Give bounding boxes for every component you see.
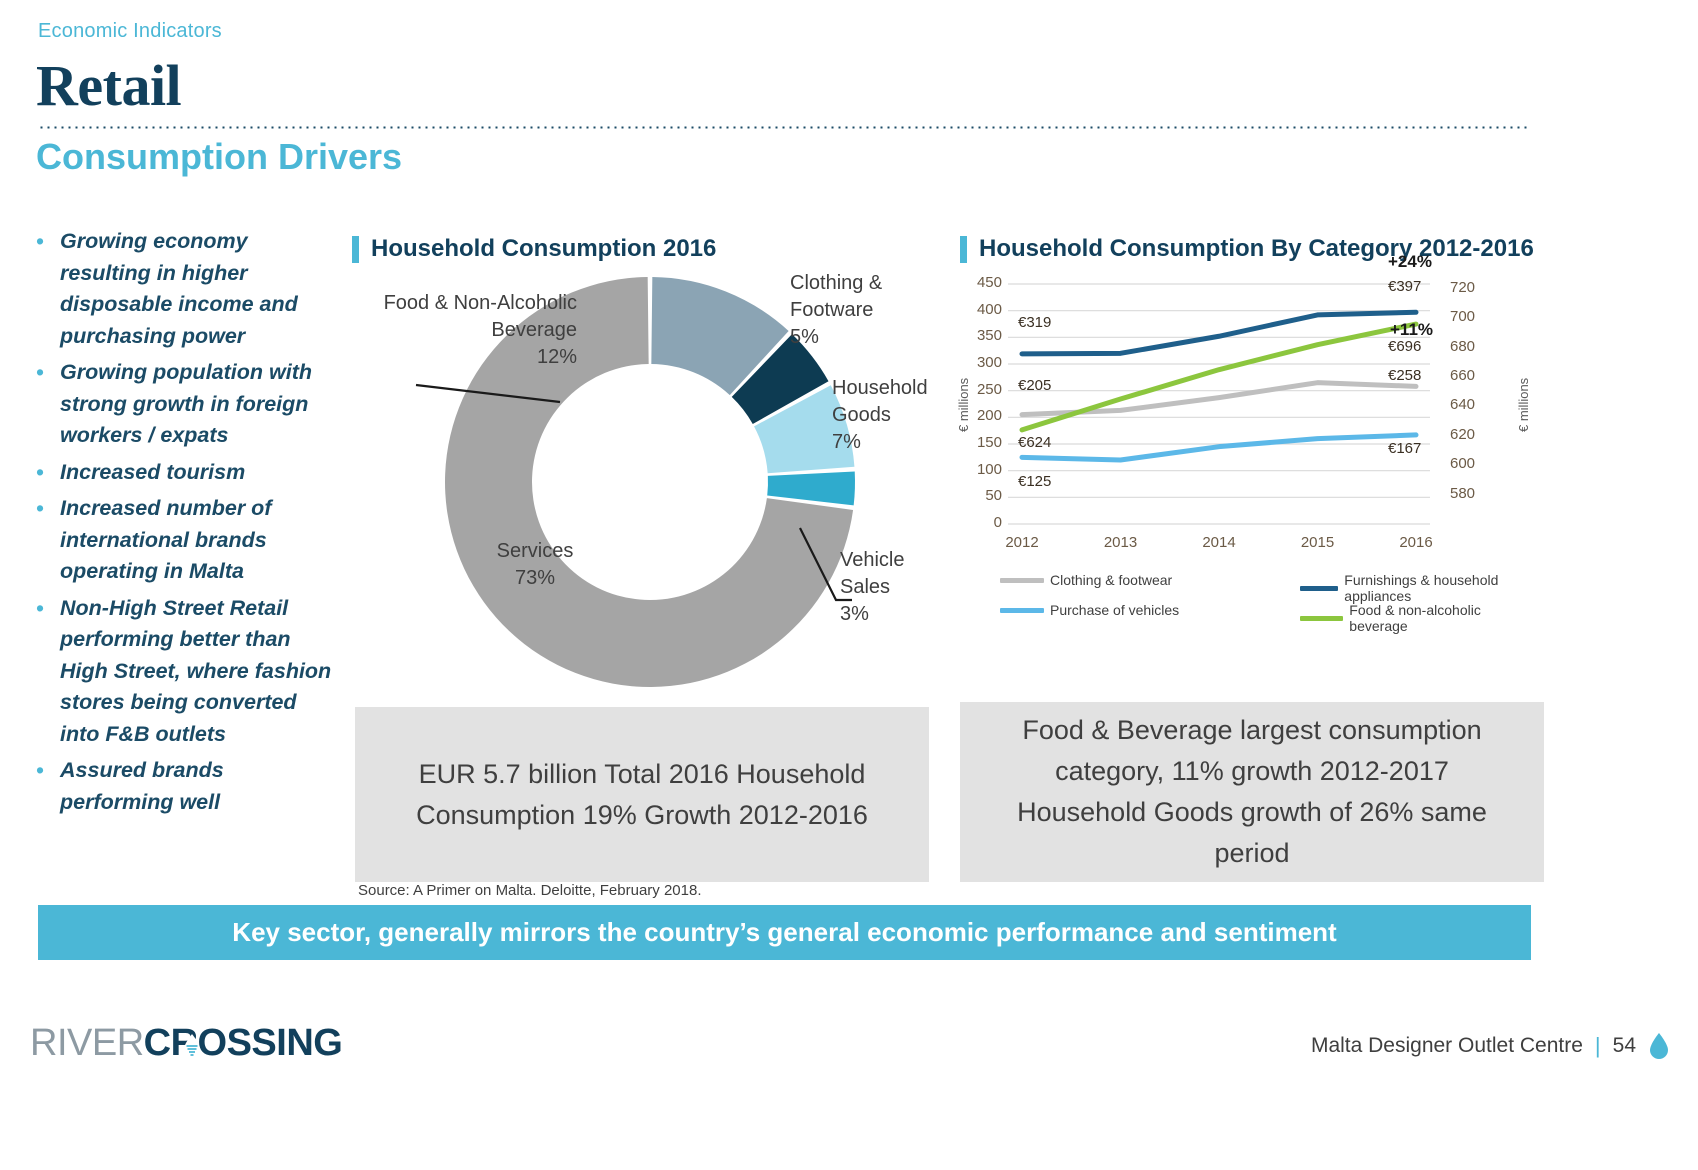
legend-item: Purchase of vehicles [1000,602,1179,618]
y-axis-tick: 200 [960,407,1002,424]
chart-annotation: €319 [1018,314,1051,331]
chart-annotation: €696 [1388,338,1421,355]
donut-label-household-goods-text: Household Goods [832,377,928,426]
line-chart-y2-axis-title: € millions [1516,378,1531,432]
chart-annotation: €624 [1018,434,1051,451]
y-axis-tick: 450 [960,274,1002,291]
callout-right-text-2: Household Goods growth of 26% same perio… [960,792,1544,874]
bullet-list: • Growing economy resulting in higher di… [36,226,336,823]
source-note: Source: A Primer on Malta. Deloitte, Feb… [358,882,702,899]
line-chart: € millions € millions 450400350300250200… [960,272,1550,672]
legend-label: Furnishings & household appliances [1344,572,1540,604]
callout-left: EUR 5.7 billion Total 2016 Household Con… [355,707,929,882]
list-item: • Assured brands performing well [36,755,336,818]
donut-label-services-text: Services [497,540,574,562]
list-item: • Increased number of international bran… [36,493,336,588]
chart-annotation: €205 [1018,377,1051,394]
donut-label-household-goods: Household Goods 7% [832,375,962,456]
chart-annotation: €397 [1388,278,1421,295]
x-axis-tick: 2012 [987,534,1057,551]
dotted-divider [38,126,1530,129]
y2-axis-tick: 600 [1450,455,1496,472]
eyebrow-label: Economic Indicators [38,20,222,43]
chart-annotation: €167 [1388,440,1421,457]
chart-annotation: €125 [1018,473,1051,490]
callout-right-text-1: Food & Beverage largest consumption cate… [960,710,1544,792]
x-axis-tick: 2014 [1184,534,1254,551]
legend-swatch-icon [1300,616,1343,621]
bullet-text: Increased number of international brands… [60,493,336,588]
key-message-text: Key sector, generally mirrors the countr… [232,917,1336,948]
donut-label-clothing-text: Clothing & Footware [790,272,882,321]
chart-annotation: €258 [1388,367,1421,384]
donut-label-services: Services 73% [470,538,600,592]
line-series [1022,312,1416,354]
bullet-text: Non-High Street Retail performing better… [60,593,336,751]
line-series [1022,435,1416,460]
pie-chart-title: Household Consumption 2016 [371,235,716,263]
donut-label-vehicle-text: Vehicle Sales [840,549,905,598]
pie-chart-heading: Household Consumption 2016 [352,235,716,263]
y-axis-tick: 350 [960,327,1002,344]
accent-bar-icon [960,236,967,263]
chart-annotation: +11% [1390,320,1433,340]
rivercrossing-logo: RIVERCROSSING [30,1022,342,1065]
legend-swatch-icon [1300,586,1338,591]
y-axis-tick: 300 [960,354,1002,371]
bullet-dot-icon: • [36,493,60,588]
donut-label-vehicle-sales: Vehicle Sales 3% [840,547,950,628]
list-item: • Non-High Street Retail performing bett… [36,593,336,751]
logo-text-river: RIVER [30,1022,144,1065]
bullet-text: Assured brands performing well [60,755,336,818]
bullet-dot-icon: • [36,593,60,751]
legend-label: Clothing & footwear [1050,572,1172,588]
y-axis-tick: 0 [960,514,1002,531]
list-item: • Increased tourism [36,457,336,489]
bullet-text: Growing population with strong growth in… [60,357,336,452]
line-chart-heading: Household Consumption By Category 2012-2… [960,235,1534,263]
y2-axis-tick: 700 [1450,308,1496,325]
list-item: • Growing population with strong growth … [36,357,336,452]
accent-bar-icon [352,236,359,263]
water-drop-icon [1648,1032,1670,1060]
y2-axis-tick: 720 [1450,279,1496,296]
slide: Economic Indicators Retail Consumption D… [0,0,1698,1170]
logo-text-crossing: CROSSING [144,1022,343,1065]
legend-swatch-icon [1000,608,1044,613]
footer-right: Malta Designer Outlet Centre | 54 [1311,1032,1670,1060]
callout-left-text: EUR 5.7 billion Total 2016 Household Con… [355,754,929,836]
callout-right: Food & Beverage largest consumption cate… [960,702,1544,882]
y-axis-tick: 250 [960,381,1002,398]
legend-label: Purchase of vehicles [1050,602,1179,618]
bullet-dot-icon: • [36,357,60,452]
footer-page-number: 54 [1613,1034,1636,1058]
legend-item: Food & non-alcoholic beverage [1300,602,1540,634]
legend-item: Clothing & footwear [1000,572,1172,588]
x-axis-tick: 2013 [1086,534,1156,551]
y2-axis-tick: 660 [1450,367,1496,384]
donut-chart: Food & Non-Alcoholic Beverage 12% Clothi… [360,270,940,690]
key-message-banner: Key sector, generally mirrors the countr… [38,905,1531,960]
y2-axis-tick: 580 [1450,485,1496,502]
y-axis-tick: 100 [960,461,1002,478]
x-axis-tick: 2016 [1381,534,1451,551]
donut-label-food-value: 12% [537,346,577,368]
bullet-dot-icon: • [36,226,60,352]
donut-label-clothing-value: 5% [790,326,819,348]
page-title: Retail [36,52,181,119]
x-axis-tick: 2015 [1283,534,1353,551]
page-subtitle: Consumption Drivers [36,136,402,178]
legend-item: Furnishings & household appliances [1300,572,1540,604]
bullet-text: Growing economy resulting in higher disp… [60,226,336,352]
donut-label-food: Food & Non-Alcoholic Beverage 12% [362,290,577,371]
bullet-text: Increased tourism [60,457,245,489]
y2-axis-tick: 680 [1450,338,1496,355]
donut-label-food-text: Food & Non-Alcoholic Beverage [384,292,577,341]
y-axis-tick: 150 [960,434,1002,451]
legend-label: Food & non-alcoholic beverage [1349,602,1540,634]
y-axis-tick: 50 [960,487,1002,504]
y2-axis-tick: 640 [1450,396,1496,413]
legend-swatch-icon [1000,578,1044,583]
water-drop-icon [182,1033,202,1059]
donut-label-household-goods-value: 7% [832,431,861,453]
footer-project-name: Malta Designer Outlet Centre [1311,1034,1583,1058]
donut-label-clothing: Clothing & Footware 5% [790,270,940,351]
bullet-dot-icon: • [36,755,60,818]
list-item: • Growing economy resulting in higher di… [36,226,336,352]
y-axis-tick: 400 [960,301,1002,318]
donut-label-vehicle-value: 3% [840,603,869,625]
bullet-dot-icon: • [36,457,60,489]
footer-separator: | [1595,1033,1601,1059]
line-chart-title: Household Consumption By Category 2012-2… [979,235,1534,263]
donut-label-services-value: 73% [515,567,555,589]
y2-axis-tick: 620 [1450,426,1496,443]
chart-annotation: +24% [1388,252,1432,272]
